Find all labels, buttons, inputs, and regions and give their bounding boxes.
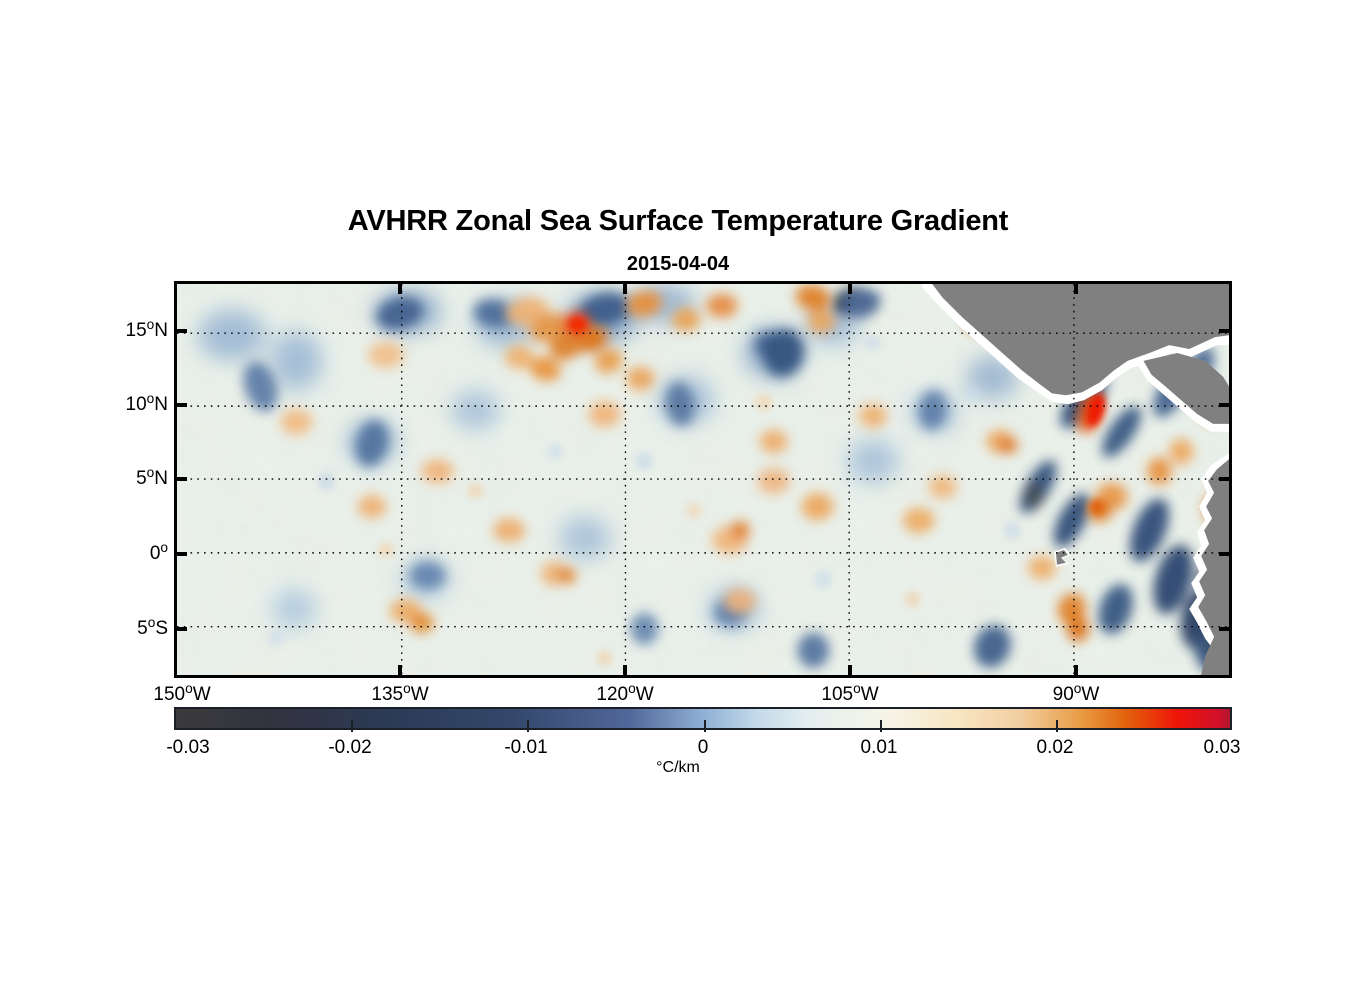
colorbar-label-pos001: 0.01 <box>861 737 898 759</box>
colorbar-label-pos002: 0.02 <box>1037 737 1074 759</box>
colorbar-tick-neg001 <box>527 720 529 732</box>
map-plot-area[interactable] <box>174 281 1232 678</box>
y-tick-label-10n: 10oN <box>126 394 168 416</box>
colorbar-label-pos003: 0.03 <box>1204 737 1241 759</box>
colorbar-tick-pos001 <box>880 720 882 732</box>
colorbar-label-zero: 0 <box>698 737 709 759</box>
colorbar[interactable] <box>174 707 1232 730</box>
y-tick-label-5s: 5oS <box>137 618 168 640</box>
colorbar-tick-pos002 <box>1056 720 1058 732</box>
y-tick-label-5n: 5oN <box>136 468 168 490</box>
colorbar-gradient <box>176 709 1230 728</box>
y-tick-label-0: 0o <box>150 543 168 565</box>
colorbar-label-neg003: -0.03 <box>166 737 209 759</box>
x-tick-label-90w: 90oW <box>1053 684 1100 706</box>
chart-subtitle: 2015-04-04 <box>0 253 1356 276</box>
map-gridlines <box>177 284 1229 675</box>
x-tick-label-150w: 150oW <box>153 684 210 706</box>
colorbar-label-neg002: -0.02 <box>328 737 371 759</box>
colorbar-label-neg001: -0.01 <box>504 737 547 759</box>
y-tick-label-15n: 15oN <box>126 320 168 342</box>
chart-title: AVHRR Zonal Sea Surface Temperature Grad… <box>0 205 1356 238</box>
x-tick-label-120w: 120oW <box>596 684 653 706</box>
x-tick-label-105w: 105oW <box>821 684 878 706</box>
colorbar-unit-label: °C/km <box>0 759 1356 777</box>
x-tick-label-135w: 135oW <box>371 684 428 706</box>
colorbar-tick-neg002 <box>351 720 353 732</box>
colorbar-tick-zero <box>704 720 706 732</box>
